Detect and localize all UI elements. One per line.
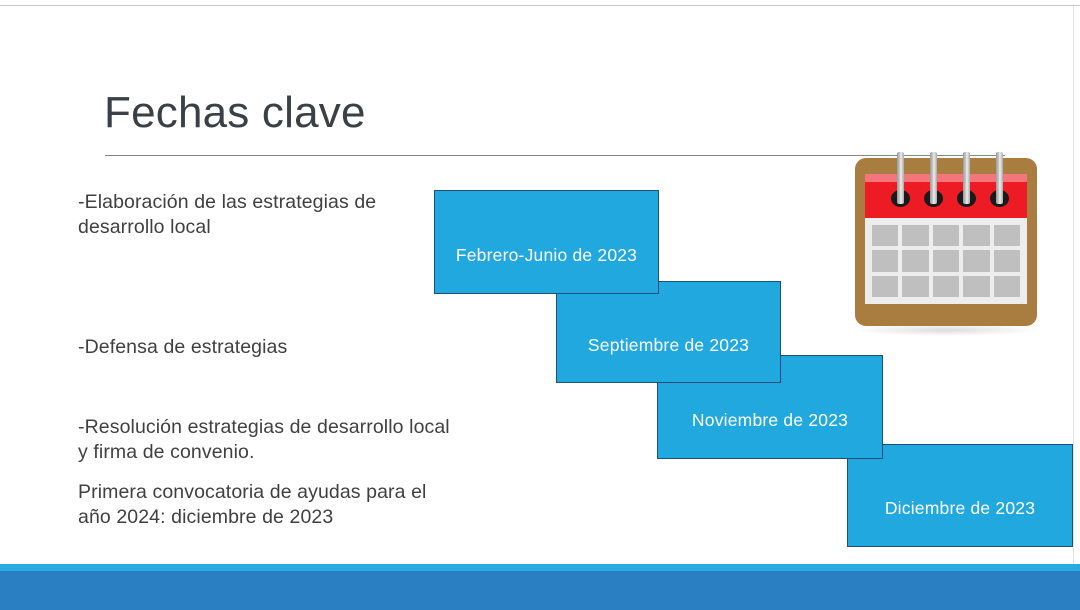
calendar-cell [933,276,959,297]
calendar-cell [872,250,898,271]
calendar-cell [933,250,959,271]
calendar-icon [851,152,1041,332]
calendar-cell [963,276,989,297]
calendar-cell [963,225,989,246]
calendar-cell [872,225,898,246]
calendar-cell [994,250,1020,271]
bullet-item-3: -Resolución estrategias de desarrollo lo… [78,415,450,465]
page-title: Fechas clave [104,88,366,138]
timeline-box-1[interactable]: Febrero-Junio de 2023 [434,190,659,294]
bullet-item-1: -Elaboración de las estrategias de desar… [78,190,450,240]
calendar-cell [872,276,898,297]
timeline-box-2[interactable]: Septiembre de 2023 [556,281,781,383]
calendar-ring-3 [963,152,970,204]
calendar-cell [902,276,928,297]
calendar-cell [963,250,989,271]
footer-band [0,571,1080,610]
calendar-cell [994,225,1020,246]
calendar-ring-1 [897,152,904,204]
bullet-item-4: Primera convocatoria de ayudas para el a… [78,480,450,530]
timeline-box-3-label: Noviembre de 2023 [692,384,848,431]
bullet-item-2: -Defensa de estrategias [78,335,287,360]
slide-canvas: Fechas clave -Elaboración de las estrate… [0,0,1080,610]
top-divider [0,5,1080,6]
calendar-grid [865,218,1027,304]
timeline-box-4[interactable]: Diciembre de 2023 [847,444,1073,547]
calendar-cell [994,276,1020,297]
calendar-cell [902,250,928,271]
timeline-box-2-label: Septiembre de 2023 [588,309,749,356]
timeline-box-4-label: Diciembre de 2023 [885,472,1035,519]
calendar-cell [902,225,928,246]
calendar-cell [933,225,959,246]
calendar-ring-2 [930,152,937,204]
footer-accent-stripe [0,564,1080,571]
right-edge-line [1073,6,1074,610]
calendar-ring-4 [996,152,1003,204]
timeline-box-1-label: Febrero-Junio de 2023 [456,219,637,266]
